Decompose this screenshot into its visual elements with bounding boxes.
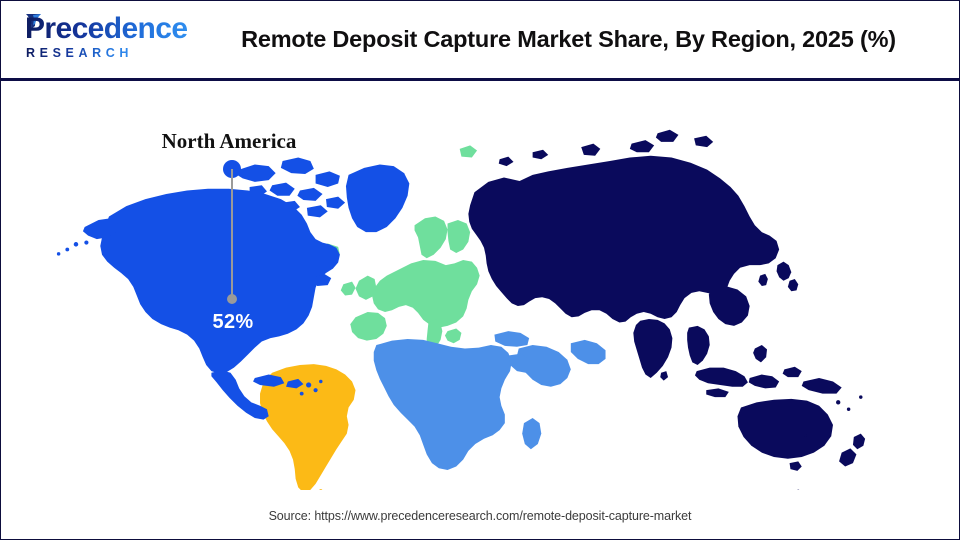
source-citation: Source: https://www.precedenceresearch.c…: [1, 509, 959, 523]
brand-subtitle: RESEARCH: [26, 46, 133, 60]
brand-logo[interactable]: Precedence RESEARCH: [15, 12, 175, 70]
infographic-card: Precedence RESEARCH Remote Deposit Captu…: [0, 0, 960, 540]
page-title: Remote Deposit Capture Market Share, By …: [191, 1, 946, 78]
brand-wordmark: Precedence: [25, 12, 187, 46]
header-bar: Precedence RESEARCH Remote Deposit Captu…: [1, 1, 959, 81]
map-container: North America 52%: [1, 81, 959, 491]
map-region-middle-east-africa[interactable]: [374, 331, 606, 470]
world-choropleth-map: [49, 95, 919, 490]
